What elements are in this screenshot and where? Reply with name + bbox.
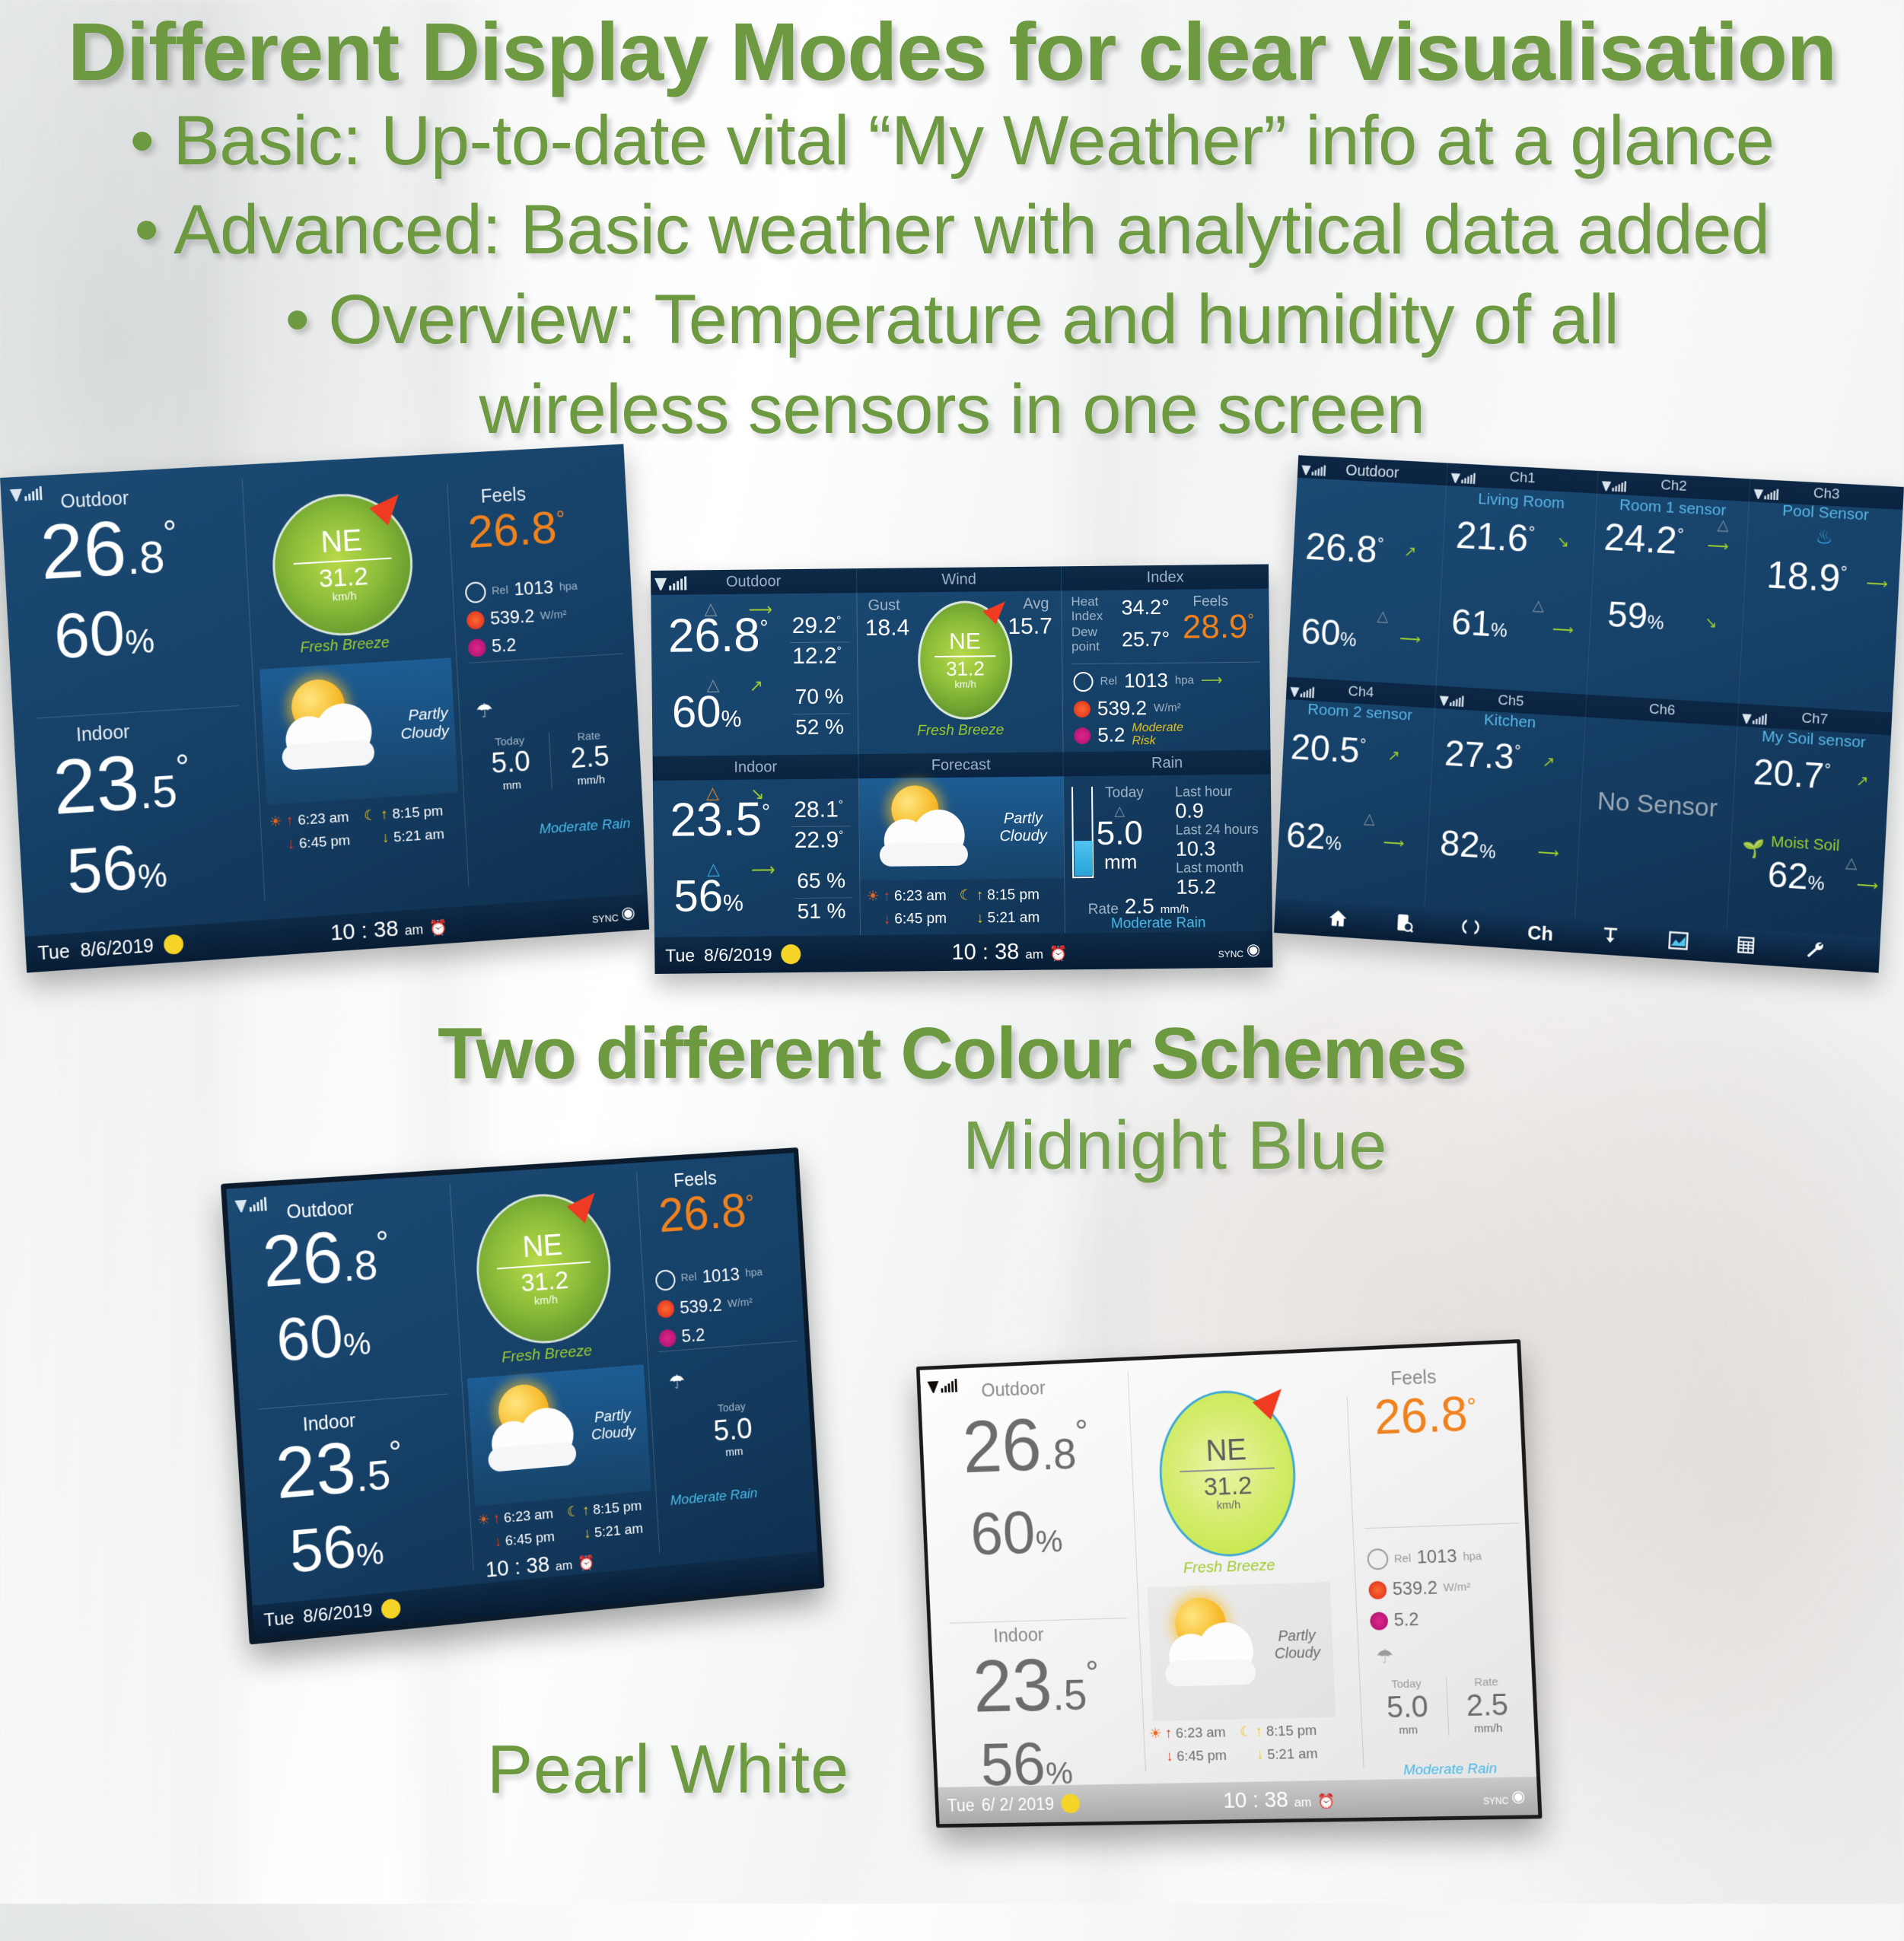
barometer-icon [1073, 671, 1093, 691]
pressure-label: Rel [1100, 675, 1117, 688]
trend-arrow-icon: ↘ [1704, 613, 1718, 633]
rain-block: Today 5.0 mm Rate 2.5 mm/h [1367, 1675, 1529, 1737]
barometer-icon [655, 1269, 677, 1291]
rain-umbrella-icon: ☂ [1376, 1645, 1394, 1669]
moonrise-time: 8:15 pm [392, 801, 444, 826]
uv-value: 5.2 [491, 632, 517, 660]
index-cell: Heat Index 34.2° Dew point 25.7° Feels 2… [1062, 588, 1270, 752]
overview-cell-ch5[interactable]: Ch5 Kitchen 27.3° ↗ 82% ⟶ [1425, 686, 1587, 918]
partly-cloudy-icon [269, 670, 386, 781]
home-icon[interactable] [1327, 907, 1349, 933]
wind-direction: NE [949, 630, 981, 653]
pool-thermometer-icon: ♨ [1747, 521, 1902, 553]
status-bar: Tue 8/6/2019 10 : 38 am ⏰ SYNC ◉ [25, 893, 650, 972]
pressure-unit: hpa [745, 1264, 763, 1283]
chart-icon[interactable] [1667, 929, 1689, 956]
heat-index-label: Heat Index [1071, 595, 1116, 624]
alert-triangle-icon: △ [1377, 606, 1389, 625]
moon-phase-icon [781, 944, 801, 964]
indoor-temp-high: 28.1° [794, 797, 843, 823]
feels-temperature: 26.8° [1374, 1389, 1478, 1442]
page-title: Different Display Modes for clear visual… [0, 8, 1904, 97]
pressure-value: 1013 [514, 574, 554, 604]
rain-today-label: Today [1105, 784, 1144, 802]
rain-last-24-value: 10.3 [1176, 837, 1216, 861]
rain-umbrella-icon: ☂ [668, 1370, 686, 1395]
alarm-icon: ⏰ [1049, 946, 1068, 962]
uv-row: 5.2 Moderate Risk [1074, 722, 1186, 749]
cell-humidity: 59% [1606, 593, 1665, 638]
bullet-overview-line2: wireless sensors in one screen [0, 365, 1904, 455]
signal-strength-icon [654, 574, 686, 590]
outdoor-label: Outdoor [981, 1378, 1046, 1402]
alarm-icon: ⏰ [1317, 1793, 1336, 1809]
outdoor-cell: △ ⟶ 26.8° 29.2° 12.2° △ ↗ 60% 70 % 52 % [651, 593, 858, 756]
solar-unit: W/m² [1443, 1578, 1471, 1598]
outdoor-temperature: 26.8° [39, 506, 180, 591]
indoor-temperature: 23.5° [670, 796, 770, 844]
uv-value: 5.2 [1097, 724, 1125, 747]
gust-label: Gust [868, 597, 899, 615]
sunrise-time: 6:23 am [503, 1504, 554, 1529]
no-sensor-text: No Sensor [1581, 785, 1734, 826]
wind-direction: NE [320, 525, 363, 558]
date-label: 8/6/2019 [80, 935, 154, 962]
date-label: 8/6/2019 [704, 944, 772, 966]
outdoor-temp-low: 12.2° [792, 643, 842, 670]
basic-display-console[interactable]: Outdoor 26.8° 60% Indoor 23.5° 56% NE 31… [0, 444, 649, 973]
sun-moon-times: ☀ ↑6:23 am ☾ ↑8:15 pm ☀ ↓6:45 pm ☾ ↓5:21… [866, 885, 1040, 930]
pressure-value: 1013 [1416, 1542, 1457, 1573]
cell-temperature: 26.8° [1304, 524, 1385, 572]
outdoor-hum-high: 70 % [795, 684, 844, 709]
channel-icon[interactable]: Ch [1527, 921, 1553, 946]
rain-today-value: 5.0 [470, 746, 550, 782]
uv-risk-label: Moderate Risk [1132, 722, 1185, 748]
alarm-icon: ⏰ [429, 919, 448, 937]
wind-description: Fresh Breeze [858, 721, 1062, 740]
rain-gauge-icon [1071, 787, 1094, 878]
sunrise-time: 6:23 am [894, 886, 947, 907]
wind-description: Fresh Breeze [482, 1341, 612, 1369]
index-cell-header: Index [1062, 564, 1269, 590]
rain-rate-value: 2.5 [1447, 1688, 1528, 1723]
measurements-list: Rel 1013 hpa 539.2 W/m² 5.2 [464, 572, 581, 662]
wind-description: Fresh Breeze [277, 633, 413, 658]
signal-strength-icon [1450, 469, 1476, 484]
rain-last-month-label: Last month [1176, 860, 1243, 877]
maxmin-icon[interactable] [1600, 924, 1621, 950]
trend-arrow-icon: ⟶ [751, 860, 775, 880]
wind-direction-needle [369, 486, 408, 526]
indoor-temp-low: 22.9° [794, 827, 844, 854]
moonrise-icon: ☾ [1239, 1722, 1253, 1742]
soil-status-label: Moist Soil [1771, 833, 1841, 856]
clock-time: 10 : 38 [951, 939, 1019, 964]
forecast-tile: Partly Cloudy [259, 657, 458, 804]
pressure-unit: hpa [1463, 1547, 1482, 1567]
divider [36, 705, 239, 718]
history-search-icon[interactable] [1394, 911, 1415, 937]
cell-temperature: 21.6° [1455, 513, 1536, 561]
overview-cell-outdoor[interactable]: Outdoor 26.8° ↗ 60% △ ⟶ [1287, 455, 1447, 686]
uv-value: 5.2 [1393, 1605, 1420, 1636]
signal-strength-icon [1601, 478, 1626, 492]
signal-strength-icon [1753, 485, 1778, 500]
rain-rate-unit: mm/h [1161, 903, 1189, 916]
cell-temperature: 20.7° [1753, 752, 1832, 798]
cell-humidity: 62% [1766, 854, 1826, 899]
bullet-advanced: • Advanced: Basic weather with analytica… [0, 186, 1904, 275]
alert-triangle-icon: △ [1532, 596, 1544, 616]
pressure-label: Rel [680, 1268, 697, 1287]
moonrise-time: 8:15 pm [987, 885, 1040, 906]
indoor-temperature: 23.5° [972, 1647, 1101, 1723]
outdoor-humidity: 60% [53, 599, 156, 668]
wind-speed-unit: km/h [954, 679, 976, 690]
cell-temperature: 27.3° [1444, 733, 1521, 778]
indoor-humidity: 56% [65, 832, 168, 902]
overview-cell-ch6[interactable]: Ch6 No Sensor [1575, 695, 1739, 928]
sun-moon-times: ☀ ↑6:23 am ☾ ↑8:15 pm ☀ ↓6:45 pm ☾ ↓5:21… [1149, 1720, 1319, 1767]
forecast-cell: Partly Cloudy ☀ ↑6:23 am ☾ ↑8:15 pm ☀ ↓6… [859, 776, 1065, 935]
pressure-value: 1013 [1124, 669, 1168, 693]
wind-speed-unit: km/h [332, 590, 357, 604]
feels-label: Feels [1390, 1367, 1437, 1390]
solar-radiation-icon [1368, 1581, 1387, 1599]
advanced-display-console[interactable]: Outdoor Wind Index △ ⟶ 26.8° 29.2° 12.2°… [651, 564, 1273, 973]
wind-direction-needle [1253, 1380, 1291, 1420]
divider [258, 1394, 447, 1410]
sunrise-icon: ☀ [866, 886, 879, 908]
sun-moon-times: ☀ ↑6:23 am ☾ ↑8:15 pm ☀ ↓6:45 pm ☾ ↓5:21… [269, 801, 445, 856]
solar-unit: W/m² [727, 1293, 753, 1313]
pearl-white-label: Pearl White [487, 1731, 1020, 1809]
gust-value: 18.4 [865, 615, 910, 641]
overview-cell-ch2[interactable]: Ch2 Room 1 sensor 24.2° △ ⟶ 59% ↘ [1587, 471, 1750, 704]
trend-arrow-icon: ⟶ [1856, 875, 1879, 896]
wind-dial[interactable]: NE 31.2 km/h [917, 600, 1013, 720]
rain-block: Today 5.0 mm Rate 2.5 mm/h [470, 727, 631, 794]
indoor-temperature: 23.5° [274, 1427, 405, 1510]
dew-point-label: Dew point [1071, 625, 1117, 654]
rain-last-24-label: Last 24 hours [1176, 822, 1259, 838]
wind-direction: NE [1205, 1435, 1247, 1466]
overview-cell-ch3[interactable]: Ch3 Pool Sensor ♨ 18.9° ⟶ [1739, 479, 1904, 712]
alert-triangle-icon: △ [1363, 809, 1375, 829]
moonrise-icon: ☾ [566, 1502, 580, 1523]
cell-humidity: 82% [1439, 823, 1497, 867]
indoor-cell-header: Indoor [653, 754, 858, 781]
barometer-icon [465, 581, 487, 603]
trend-arrow-icon: ↗ [1542, 753, 1555, 772]
solar-value: 539.2 [489, 603, 535, 633]
barometer-icon [1367, 1548, 1389, 1570]
alarm-icon: ⏰ [578, 1555, 595, 1572]
wind-speed: 31.2 [1203, 1472, 1253, 1500]
trend-arrow-icon: ⟶ [1399, 628, 1422, 648]
trend-arrow-icon: ⟶ [1866, 573, 1889, 593]
indoor-temperature: 23.5° [51, 740, 192, 826]
indoor-cell: △ ↘ 23.5° 28.1° 22.9° △ ⟶ 56% 65 % 51 % [653, 778, 860, 937]
pressure-value: 1013 [702, 1260, 740, 1292]
forecast-tile: Partly Cloudy [467, 1364, 651, 1507]
trend-arrow-icon: ⟶ [1537, 842, 1559, 862]
trend-arrow-icon: ↗ [1387, 746, 1401, 765]
moonrise-icon: ☾ [960, 886, 973, 907]
signal-strength-icon [1290, 683, 1314, 698]
outdoor-humidity: 60% [672, 690, 742, 735]
sunset-time: 6:45 pm [1176, 1745, 1227, 1767]
signal-strength-icon [10, 483, 43, 501]
partly-cloudy-icon [871, 781, 986, 879]
solar-value: 539.2 [1392, 1573, 1438, 1605]
indoor-hum-low: 51 % [798, 899, 846, 924]
indoor-humidity: 56% [673, 874, 743, 919]
wind-description: Fresh Breeze [1164, 1556, 1296, 1578]
moonset-time: 5:21 am [393, 824, 445, 848]
partly-cloudy-icon [478, 1375, 592, 1488]
sunset-time: 6:45 pm [298, 830, 351, 854]
measurements-list: Rel 1013 hpa 539.2 W/m² 5.2 [1367, 1541, 1485, 1637]
cell-temperature: 20.5° [1290, 727, 1367, 772]
overview-cell-ch4[interactable]: Ch4 Room 2 sensor 20.5° ↗ 62% △ ⟶ [1275, 677, 1436, 908]
status-bar: Tue 8/6/2019 10 : 38 am ⏰ SYNC ◉ [654, 931, 1272, 974]
colour-schemes-title: Two different Colour Schemes [0, 1012, 1904, 1096]
overview-cell-ch1[interactable]: Ch1 Living Room 21.6° ↘ 61% △ ⟶ [1437, 463, 1599, 695]
signal-strength-icon [927, 1376, 957, 1393]
pressure-unit: hpa [1175, 674, 1194, 687]
cell-humidity: 61% [1450, 602, 1508, 646]
day-label: Tue [37, 940, 70, 965]
bullet-overview-line1: • Overview: Temperature and humidity of … [0, 275, 1904, 365]
outdoor-temperature: 26.8° [668, 612, 769, 660]
clock-ampm: am [555, 1558, 572, 1573]
wind-dial[interactable]: NE 31.2 km/h [269, 490, 416, 639]
trend-arrow-icon: ↗ [749, 676, 763, 695]
sunrise-icon: ☀ [269, 812, 282, 833]
rain-description: Moderate Rain [483, 816, 631, 842]
headings-block: Different Display Modes for clear visual… [0, 0, 1904, 455]
forecast-cell-header: Forecast [859, 752, 1063, 778]
pressure-label: Rel [492, 581, 509, 600]
uv-index-icon [1074, 727, 1091, 744]
wind-speed-unit: km/h [533, 1293, 558, 1307]
clock-time: 10 : 38 [1223, 1787, 1289, 1812]
solar-radiation-icon [466, 610, 485, 629]
uv-index-icon [468, 638, 486, 657]
moonrise-time: 8:15 pm [593, 1496, 643, 1520]
wind-dial[interactable]: NE 31.2 km/h [1156, 1388, 1299, 1558]
sync-label: SYNC [1483, 1795, 1509, 1806]
bullet-basic: • Basic: Up-to-date vital “My Weather” i… [0, 97, 1904, 186]
rain-cell: Today △ 5.0 mm Last hour 0.9 Last 24 hou… [1064, 774, 1272, 933]
rain-today-unit: mm [1369, 1723, 1448, 1738]
wifi-icon: ◉ [1247, 940, 1261, 959]
outdoor-humidity: 60% [970, 1501, 1064, 1564]
outdoor-temp-high: 29.2° [792, 613, 842, 639]
sunset-time: 6:45 pm [505, 1526, 556, 1551]
feels-temperature: 28.9° [1183, 610, 1255, 644]
avg-value: 15.7 [1008, 613, 1052, 640]
rain-today-value: 5.0 [1096, 816, 1143, 851]
cell-humidity: 60% [1300, 611, 1358, 655]
wind-speed: 31.2 [318, 563, 368, 591]
divider [450, 1184, 474, 1571]
outdoor-humidity: 60% [275, 1303, 372, 1370]
clock-ampm: am [1294, 1795, 1312, 1809]
indoor-hum-high: 65 % [797, 868, 845, 893]
cell-temperature: 24.2° [1603, 515, 1684, 563]
moonrise-icon: ☾ [363, 805, 377, 826]
solar-row: 539.2 W/m² [1074, 696, 1181, 721]
solar-unit: W/m² [1154, 702, 1181, 714]
settings-wrench-icon[interactable] [1804, 938, 1826, 965]
rain-today-unit: mm [1104, 850, 1138, 873]
trend-arrow-icon: ⟶ [1201, 670, 1223, 689]
sunrise-icon: ☀ [477, 1510, 491, 1531]
moon-phase-icon [164, 934, 184, 955]
heat-index-value: 34.2° [1121, 596, 1170, 620]
uv-index-icon [658, 1328, 677, 1348]
wind-direction-needle [567, 1185, 604, 1223]
uv-index-icon [1370, 1612, 1389, 1630]
sync-label: SYNC [592, 912, 619, 925]
feels-temperature: 26.8° [466, 504, 566, 556]
clock-time: 10 : 38 [330, 916, 399, 946]
trend-arrow-icon: ⟶ [1707, 536, 1730, 555]
rain-rate-unit: mm/h [1448, 1721, 1528, 1736]
sunset-time: 6:45 pm [894, 908, 947, 929]
solar-unit: W/m² [540, 606, 567, 625]
sunrise-time: 6:23 am [298, 807, 350, 832]
clock-ampm: am [404, 922, 423, 938]
rain-block: Today 5.0 mm [679, 1397, 787, 1462]
trend-arrow-icon: ⟶ [1383, 832, 1405, 852]
wifi-icon: ◉ [621, 902, 636, 923]
refresh-icon[interactable] [1460, 915, 1481, 941]
forecast-description: Partly Cloudy [1264, 1627, 1330, 1663]
sensor-name: Living Room [1446, 488, 1597, 514]
pressure-row: Rel 1013 hpa ⟶ [1073, 668, 1222, 693]
trend-arrow-icon: ↗ [1855, 772, 1869, 791]
day-label: Tue [665, 945, 695, 966]
wind-dial[interactable]: NE 31.2 km/h [473, 1190, 616, 1348]
forecast-description: Partly Cloudy [380, 705, 450, 745]
moonrise-time: 8:15 pm [1266, 1720, 1317, 1742]
forecast-tile: Partly Cloudy [1148, 1582, 1336, 1721]
rain-last-hour-label: Last hour [1175, 784, 1232, 800]
uv-value: 5.2 [681, 1321, 706, 1351]
wind-direction: NE [522, 1230, 564, 1262]
calendar-icon[interactable] [1736, 934, 1756, 959]
midnight-blue-console[interactable]: Outdoor 26.8° 60% Indoor 23.5° 56% NE 31… [221, 1147, 824, 1644]
moon-phase-icon [380, 1598, 401, 1619]
alert-triangle-icon: △ [1845, 853, 1858, 873]
rain-description: Moderate Rain [670, 1481, 810, 1510]
wind-cell: Gust 18.4 Avg 15.7 NE 31.2 km/h Fresh Br… [857, 590, 1062, 754]
pressure-label: Rel [1393, 1549, 1411, 1569]
rain-last-hour-value: 0.9 [1175, 799, 1204, 823]
soil-plant-icon: 🌱 [1741, 837, 1765, 861]
rain-description: Moderate Rain [1111, 915, 1206, 932]
rain-today-value: 5.0 [1368, 1690, 1447, 1725]
clock-ampm: am [1025, 947, 1043, 961]
cell-humidity: 62% [1285, 815, 1343, 860]
forecast-description: Partly Cloudy [990, 810, 1055, 845]
solar-radiation-icon [657, 1300, 675, 1319]
outdoor-temperature: 26.8° [260, 1218, 392, 1300]
solar-radiation-icon [1074, 700, 1091, 717]
dew-point-value: 25.7° [1122, 628, 1170, 652]
signal-strength-icon [1742, 710, 1767, 724]
cell-temperature: 18.9° [1765, 552, 1848, 601]
signal-strength-icon [234, 1194, 267, 1213]
solar-value: 539.2 [1097, 696, 1147, 721]
date-label: 8/6/2019 [303, 1600, 374, 1628]
trend-arrow-icon: ↘ [1556, 532, 1570, 552]
sunrise-time: 6:23 am [1175, 1723, 1226, 1744]
avg-label: Avg [1023, 596, 1049, 613]
forecast-description: Partly Cloudy [582, 1406, 644, 1445]
outdoor-temperature: 26.8° [961, 1405, 1091, 1484]
moonset-time: 5:21 am [594, 1519, 644, 1544]
wifi-icon: ◉ [1511, 1787, 1525, 1806]
moonset-time: 5:21 am [987, 907, 1040, 928]
day-label: Tue [263, 1608, 295, 1632]
wind-speed-unit: km/h [1217, 1498, 1241, 1512]
wind-speed: 31.2 [946, 658, 985, 679]
feels-temperature: 26.8° [657, 1186, 756, 1239]
trend-arrow-icon: ↗ [1403, 542, 1417, 562]
moonset-time: 5:21 am [1267, 1743, 1319, 1764]
rain-cell-header: Rain [1064, 749, 1271, 776]
solar-value: 539.2 [679, 1290, 723, 1322]
overview-cell-ch7[interactable]: Ch7 My Soil sensor 20.7° ↗ 🌱 Moist Soil … [1727, 704, 1893, 938]
moon-phase-icon [1061, 1793, 1081, 1813]
measurements-list: Rel 1013 hpa 539.2 W/m² 5.2 [654, 1258, 766, 1354]
trend-arrow-icon: ⟶ [1552, 619, 1574, 639]
wind-speed: 31.2 [521, 1267, 569, 1296]
wind-cell-header: Wind [857, 566, 1061, 593]
rain-umbrella-icon: ☂ [476, 698, 494, 723]
sync-label: SYNC [1218, 948, 1243, 959]
sunrise-icon: ☀ [1149, 1724, 1162, 1745]
signal-strength-icon [1439, 692, 1464, 707]
partly-cloudy-icon [1156, 1589, 1270, 1701]
overview-display-console[interactable]: Outdoor 26.8° ↗ 60% △ ⟶ Ch1 Living Room … [1274, 455, 1904, 972]
pressure-unit: hpa [559, 578, 578, 596]
outdoor-hum-low: 52 % [795, 714, 844, 740]
midnight-blue-label: Midnight Blue [963, 1107, 1495, 1185]
alert-triangle-icon: △ [1717, 515, 1729, 535]
rain-rate-value: 2.5 [550, 740, 630, 777]
